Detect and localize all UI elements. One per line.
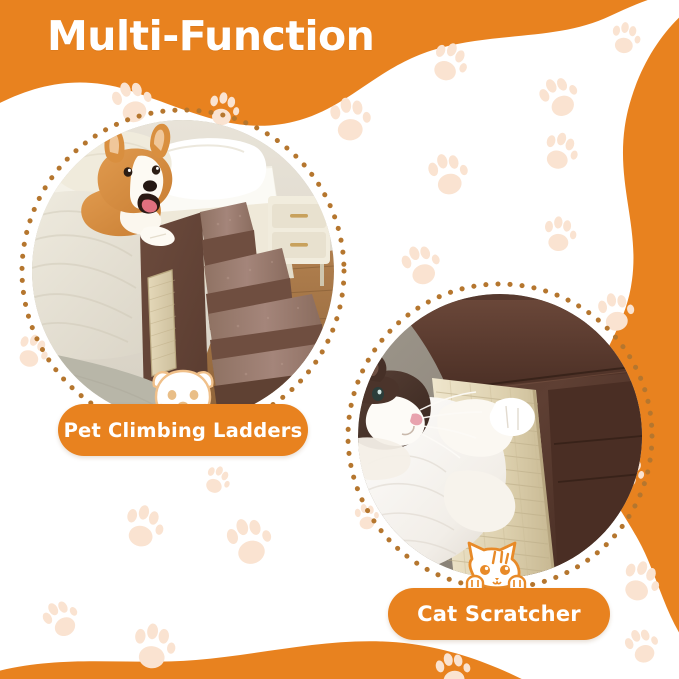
infographic-canvas: Multi-Function	[0, 0, 679, 679]
photo-cat-scratching-sisal-panel[interactable]	[358, 294, 642, 578]
label-text-cat-scratcher: Cat Scratcher	[417, 602, 581, 626]
page-title: Multi-Function	[47, 12, 374, 60]
label-pill-pet-climbing-ladders[interactable]: Pet Climbing Ladders	[58, 404, 308, 456]
label-text-pet-climbing-ladders: Pet Climbing Ladders	[64, 419, 303, 442]
cat-face-icon	[462, 537, 532, 595]
label-pill-cat-scratcher[interactable]: Cat Scratcher	[388, 588, 610, 640]
